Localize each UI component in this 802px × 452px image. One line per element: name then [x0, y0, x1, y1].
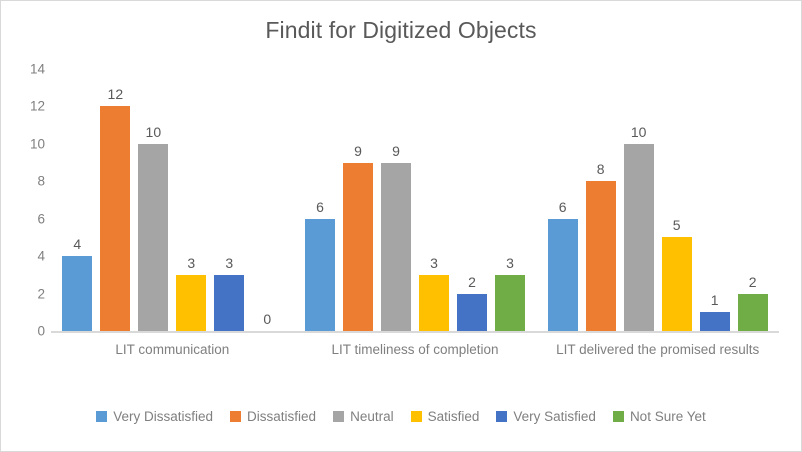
- bar-value-label: 9: [392, 144, 400, 158]
- legend-item[interactable]: Very Dissatisfied: [96, 409, 213, 424]
- legend-item[interactable]: Not Sure Yet: [613, 409, 706, 424]
- bar-value-label: 6: [316, 200, 324, 214]
- legend-swatch-icon: [333, 411, 344, 422]
- legend-label: Very Dissatisfied: [113, 409, 213, 424]
- bar[interactable]: [419, 275, 449, 331]
- legend-swatch-icon: [411, 411, 422, 422]
- bar-slot: 9: [343, 69, 373, 331]
- bar[interactable]: [381, 163, 411, 331]
- legend-swatch-icon: [613, 411, 624, 422]
- y-axis-tick: 8: [37, 174, 45, 189]
- bar[interactable]: [343, 163, 373, 331]
- x-axis-labels: LIT communicationLIT timeliness of compl…: [51, 341, 779, 387]
- bar-slot: 3: [419, 69, 449, 331]
- y-axis-tick: 2: [37, 286, 45, 301]
- y-axis-tick: 14: [30, 62, 45, 77]
- legend-swatch-icon: [230, 411, 241, 422]
- bar-group: 41210330: [51, 69, 294, 331]
- bar[interactable]: [700, 312, 730, 331]
- legend-label: Not Sure Yet: [630, 409, 706, 424]
- bar[interactable]: [100, 106, 130, 331]
- x-axis-line: [51, 331, 779, 333]
- bar-slot: 10: [624, 69, 654, 331]
- bar[interactable]: [738, 294, 768, 331]
- bar-value-label: 3: [225, 256, 233, 270]
- bar[interactable]: [305, 219, 335, 331]
- bar[interactable]: [495, 275, 525, 331]
- bar-value-label: 2: [749, 275, 757, 289]
- bar[interactable]: [586, 181, 616, 331]
- bar-slot: 4: [62, 69, 92, 331]
- y-axis-tick: 12: [30, 99, 45, 114]
- y-axis: 14121086420: [1, 69, 45, 331]
- legend-label: Very Satisfied: [513, 409, 596, 424]
- y-axis-tick: 0: [37, 324, 45, 339]
- legend-swatch-icon: [96, 411, 107, 422]
- bar-slot: 10: [138, 69, 168, 331]
- bar-value-label: 1: [711, 293, 719, 307]
- bar-value-label: 4: [73, 237, 81, 251]
- bar-slot: 0: [252, 69, 282, 331]
- bar-value-label: 8: [597, 162, 605, 176]
- chart-legend: Very DissatisfiedDissatisfiedNeutralSati…: [1, 409, 801, 424]
- y-axis-tick: 10: [30, 136, 45, 151]
- bar-value-label: 10: [631, 125, 647, 139]
- bar[interactable]: [62, 256, 92, 331]
- bar-slot: 6: [548, 69, 578, 331]
- bar-value-label: 10: [146, 125, 162, 139]
- bar-group: 699323: [294, 69, 537, 331]
- plot-area: 412103306993236810512: [51, 69, 779, 331]
- legend-item[interactable]: Very Satisfied: [496, 409, 596, 424]
- bar-slot: 6: [305, 69, 335, 331]
- chart-title: Findit for Digitized Objects: [1, 17, 801, 44]
- legend-item[interactable]: Neutral: [333, 409, 394, 424]
- legend-label: Satisfied: [428, 409, 480, 424]
- bar-value-label: 2: [468, 275, 476, 289]
- x-axis-category-label: LIT timeliness of completion: [294, 341, 537, 387]
- bar[interactable]: [138, 144, 168, 331]
- legend-item[interactable]: Satisfied: [411, 409, 480, 424]
- bar-group: 6810512: [536, 69, 779, 331]
- chart-container: Findit for Digitized Objects 14121086420…: [0, 0, 802, 452]
- bar-value-label: 3: [430, 256, 438, 270]
- y-axis-tick: 6: [37, 211, 45, 226]
- bar-slot: 3: [495, 69, 525, 331]
- bar-slot: 3: [176, 69, 206, 331]
- bar-slot: 3: [214, 69, 244, 331]
- legend-label: Dissatisfied: [247, 409, 316, 424]
- bar-slot: 2: [738, 69, 768, 331]
- bar[interactable]: [214, 275, 244, 331]
- x-axis-category-label: LIT delivered the promised results: [536, 341, 779, 387]
- bar[interactable]: [457, 294, 487, 331]
- bar-slot: 5: [662, 69, 692, 331]
- bar-slot: 9: [381, 69, 411, 331]
- y-axis-tick: 4: [37, 249, 45, 264]
- bar-slot: 8: [586, 69, 616, 331]
- bar-value-label: 3: [187, 256, 195, 270]
- bar[interactable]: [176, 275, 206, 331]
- bar-slot: 12: [100, 69, 130, 331]
- legend-item[interactable]: Dissatisfied: [230, 409, 316, 424]
- bar-value-label: 3: [506, 256, 514, 270]
- legend-swatch-icon: [496, 411, 507, 422]
- bar[interactable]: [662, 237, 692, 331]
- legend-label: Neutral: [350, 409, 394, 424]
- bar[interactable]: [624, 144, 654, 331]
- bar-slot: 1: [700, 69, 730, 331]
- bar-value-label: 9: [354, 144, 362, 158]
- x-axis-category-label: LIT communication: [51, 341, 294, 387]
- bar-slot: 2: [457, 69, 487, 331]
- bar-value-label: 0: [263, 312, 271, 326]
- bar-value-label: 12: [108, 87, 124, 101]
- bar-value-label: 6: [559, 200, 567, 214]
- bar-value-label: 5: [673, 218, 681, 232]
- bar[interactable]: [548, 219, 578, 331]
